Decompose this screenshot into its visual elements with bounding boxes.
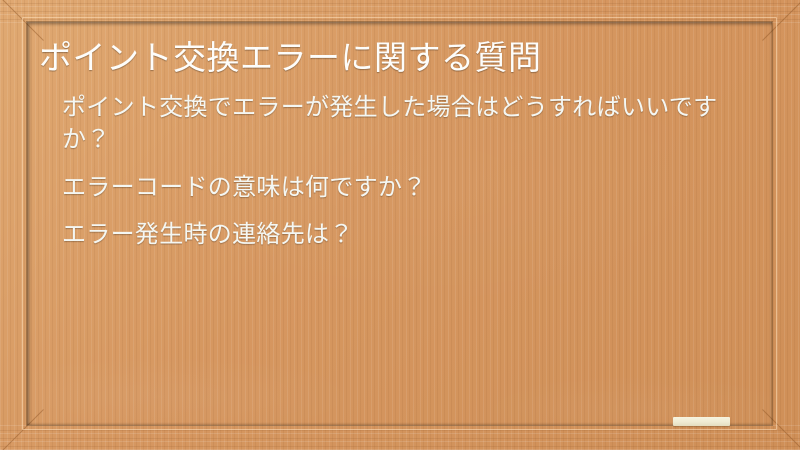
slide-title: ポイント交換エラーに関する質問 <box>35 32 752 78</box>
question-item: エラーコードの意味は何ですか？ <box>62 172 732 204</box>
chalkboard-content: ポイント交換エラーに関する質問 ポイント交換でエラーが発生した場合はどうすればい… <box>27 22 772 425</box>
chalkboard: ポイント交換エラーに関する質問 ポイント交換でエラーが発生した場合はどうすればい… <box>27 22 772 425</box>
question-list: ポイント交換でエラーが発生した場合はどうすればいいですか？ エラーコードの意味は… <box>35 92 752 251</box>
question-item: ポイント交換でエラーが発生した場合はどうすればいいですか？ <box>62 92 732 155</box>
wood-grain-top <box>0 0 800 23</box>
blackboard-slide: ポイント交換エラーに関する質問 ポイント交換でエラーが発生した場合はどうすればい… <box>0 0 800 450</box>
wood-grain-bottom <box>0 424 800 450</box>
question-item: エラー発生時の連絡先は？ <box>62 219 732 251</box>
chalk-stick-icon <box>673 417 730 426</box>
